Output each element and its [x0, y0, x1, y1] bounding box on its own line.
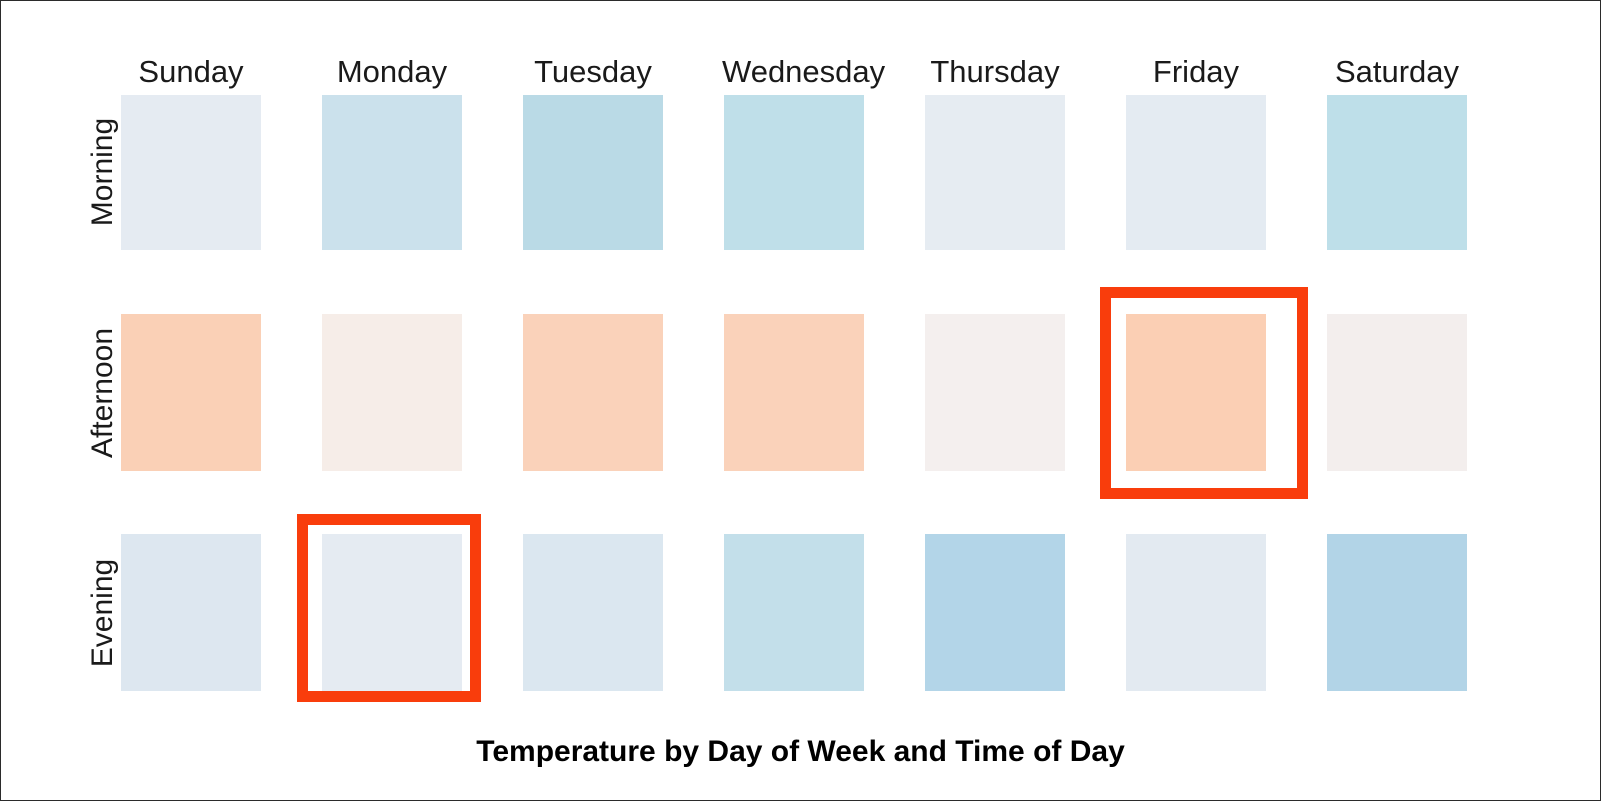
cell-morning-tuesday[interactable] [523, 95, 663, 250]
cell-afternoon-tuesday[interactable] [523, 314, 663, 471]
cell-evening-tuesday[interactable] [523, 534, 663, 691]
cell-afternoon-friday[interactable] [1126, 314, 1266, 471]
cell-morning-sunday[interactable] [121, 95, 261, 250]
cell-afternoon-saturday[interactable] [1327, 314, 1467, 471]
column-header-friday: Friday [1124, 56, 1268, 87]
cell-evening-friday[interactable] [1126, 534, 1266, 691]
column-header-sunday: Sunday [119, 56, 263, 87]
column-header-thursday: Thursday [923, 56, 1067, 87]
cell-afternoon-thursday[interactable] [925, 314, 1065, 471]
cell-morning-thursday[interactable] [925, 95, 1065, 250]
cell-evening-sunday[interactable] [121, 534, 261, 691]
column-header-wednesday: Wednesday [722, 56, 866, 87]
cell-morning-saturday[interactable] [1327, 95, 1467, 250]
row-label-afternoon: Afternoon [88, 313, 118, 473]
cell-morning-friday[interactable] [1126, 95, 1266, 250]
chart-title: Temperature by Day of Week and Time of D… [1, 737, 1600, 767]
cell-evening-monday[interactable] [322, 534, 462, 691]
cell-evening-thursday[interactable] [925, 534, 1065, 691]
row-label-evening: Evening [88, 533, 118, 693]
cell-afternoon-sunday[interactable] [121, 314, 261, 471]
column-header-tuesday: Tuesday [521, 56, 665, 87]
cell-morning-wednesday[interactable] [724, 95, 864, 250]
cell-morning-monday[interactable] [322, 95, 462, 250]
cell-evening-saturday[interactable] [1327, 534, 1467, 691]
cell-afternoon-wednesday[interactable] [724, 314, 864, 471]
row-label-morning: Morning [88, 92, 118, 252]
heatmap-figure: Sunday Monday Tuesday Wednesday Thursday… [0, 0, 1601, 801]
cell-afternoon-monday[interactable] [322, 314, 462, 471]
column-header-saturday: Saturday [1325, 56, 1469, 87]
column-header-monday: Monday [320, 56, 464, 87]
cell-evening-wednesday[interactable] [724, 534, 864, 691]
